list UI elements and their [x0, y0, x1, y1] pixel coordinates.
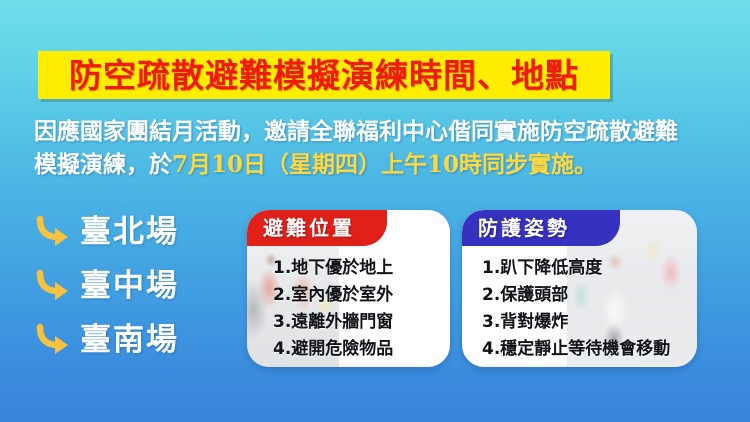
- location-label: 臺北場: [80, 217, 179, 248]
- card-header-label: 避難位置: [263, 218, 355, 238]
- card-header-label: 防護姿勢: [478, 218, 570, 238]
- curved-arrow-icon: [28, 211, 80, 253]
- page-title: 防空疏散避難模擬演練時間、地點: [69, 59, 579, 92]
- curved-arrow-icon: [28, 319, 80, 361]
- subtitle-line-1: 因應國家團結月活動，邀請全聯福利中心偕同實施防空疏散避難: [34, 115, 724, 148]
- card-body-shelter: 1.地下優於地上 2.室內優於室外 3.遠離外牆門窗 4.避開危險物品: [247, 250, 450, 363]
- location-label: 臺中場: [80, 271, 179, 302]
- card-shelter-location: 避難位置 1.地下優於地上 2.室內優於室外 3.遠離外牆門窗 4.避開危險物品: [247, 210, 450, 367]
- list-item: 4.穩定靜止等待機會移動: [482, 336, 697, 363]
- card-header-shelter: 避難位置: [247, 210, 387, 246]
- card-body-posture: 1.趴下降低高度 2.保護頭部 3.背對爆炸 4.穩定靜止等待機會移動: [462, 250, 697, 363]
- location-label: 臺南場: [80, 325, 179, 356]
- list-item: 2.保護頭部: [482, 282, 697, 309]
- list-item-tainan[interactable]: 臺南場: [28, 315, 233, 365]
- curved-arrow-icon: [28, 265, 80, 307]
- poster-canvas: 防空疏散避難模擬演練時間、地點 因應國家團結月活動，邀請全聯福利中心偕同實施防空…: [0, 0, 750, 422]
- subtitle-line-2-prefix: 模擬演練，於: [34, 151, 172, 178]
- subtitle-date-highlight: 7月10日（星期四）上午10時同步實施。: [172, 151, 597, 178]
- card-protective-posture: 防護姿勢 1.趴下降低高度 2.保護頭部 3.背對爆炸 4.穩定靜止等待機會移動: [462, 210, 697, 367]
- card-header-posture: 防護姿勢: [462, 210, 620, 246]
- list-item-taichung[interactable]: 臺中場: [28, 261, 233, 311]
- list-item-taipei[interactable]: 臺北場: [28, 207, 233, 257]
- title-banner: 防空疏散避難模擬演練時間、地點: [38, 51, 610, 99]
- list-item: 2.室內優於室外: [273, 282, 450, 309]
- subtitle-block: 因應國家團結月活動，邀請全聯福利中心偕同實施防空疏散避難 模擬演練，於7月10日…: [34, 115, 724, 181]
- list-item: 3.遠離外牆門窗: [273, 309, 450, 336]
- subtitle-line-2: 模擬演練，於7月10日（星期四）上午10時同步實施。: [34, 148, 724, 181]
- location-list: 臺北場 臺中場 臺南場: [28, 207, 233, 369]
- list-item: 1.趴下降低高度: [482, 255, 697, 282]
- list-item: 4.避開危險物品: [273, 336, 450, 363]
- list-item: 1.地下優於地上: [273, 255, 450, 282]
- list-item: 3.背對爆炸: [482, 309, 697, 336]
